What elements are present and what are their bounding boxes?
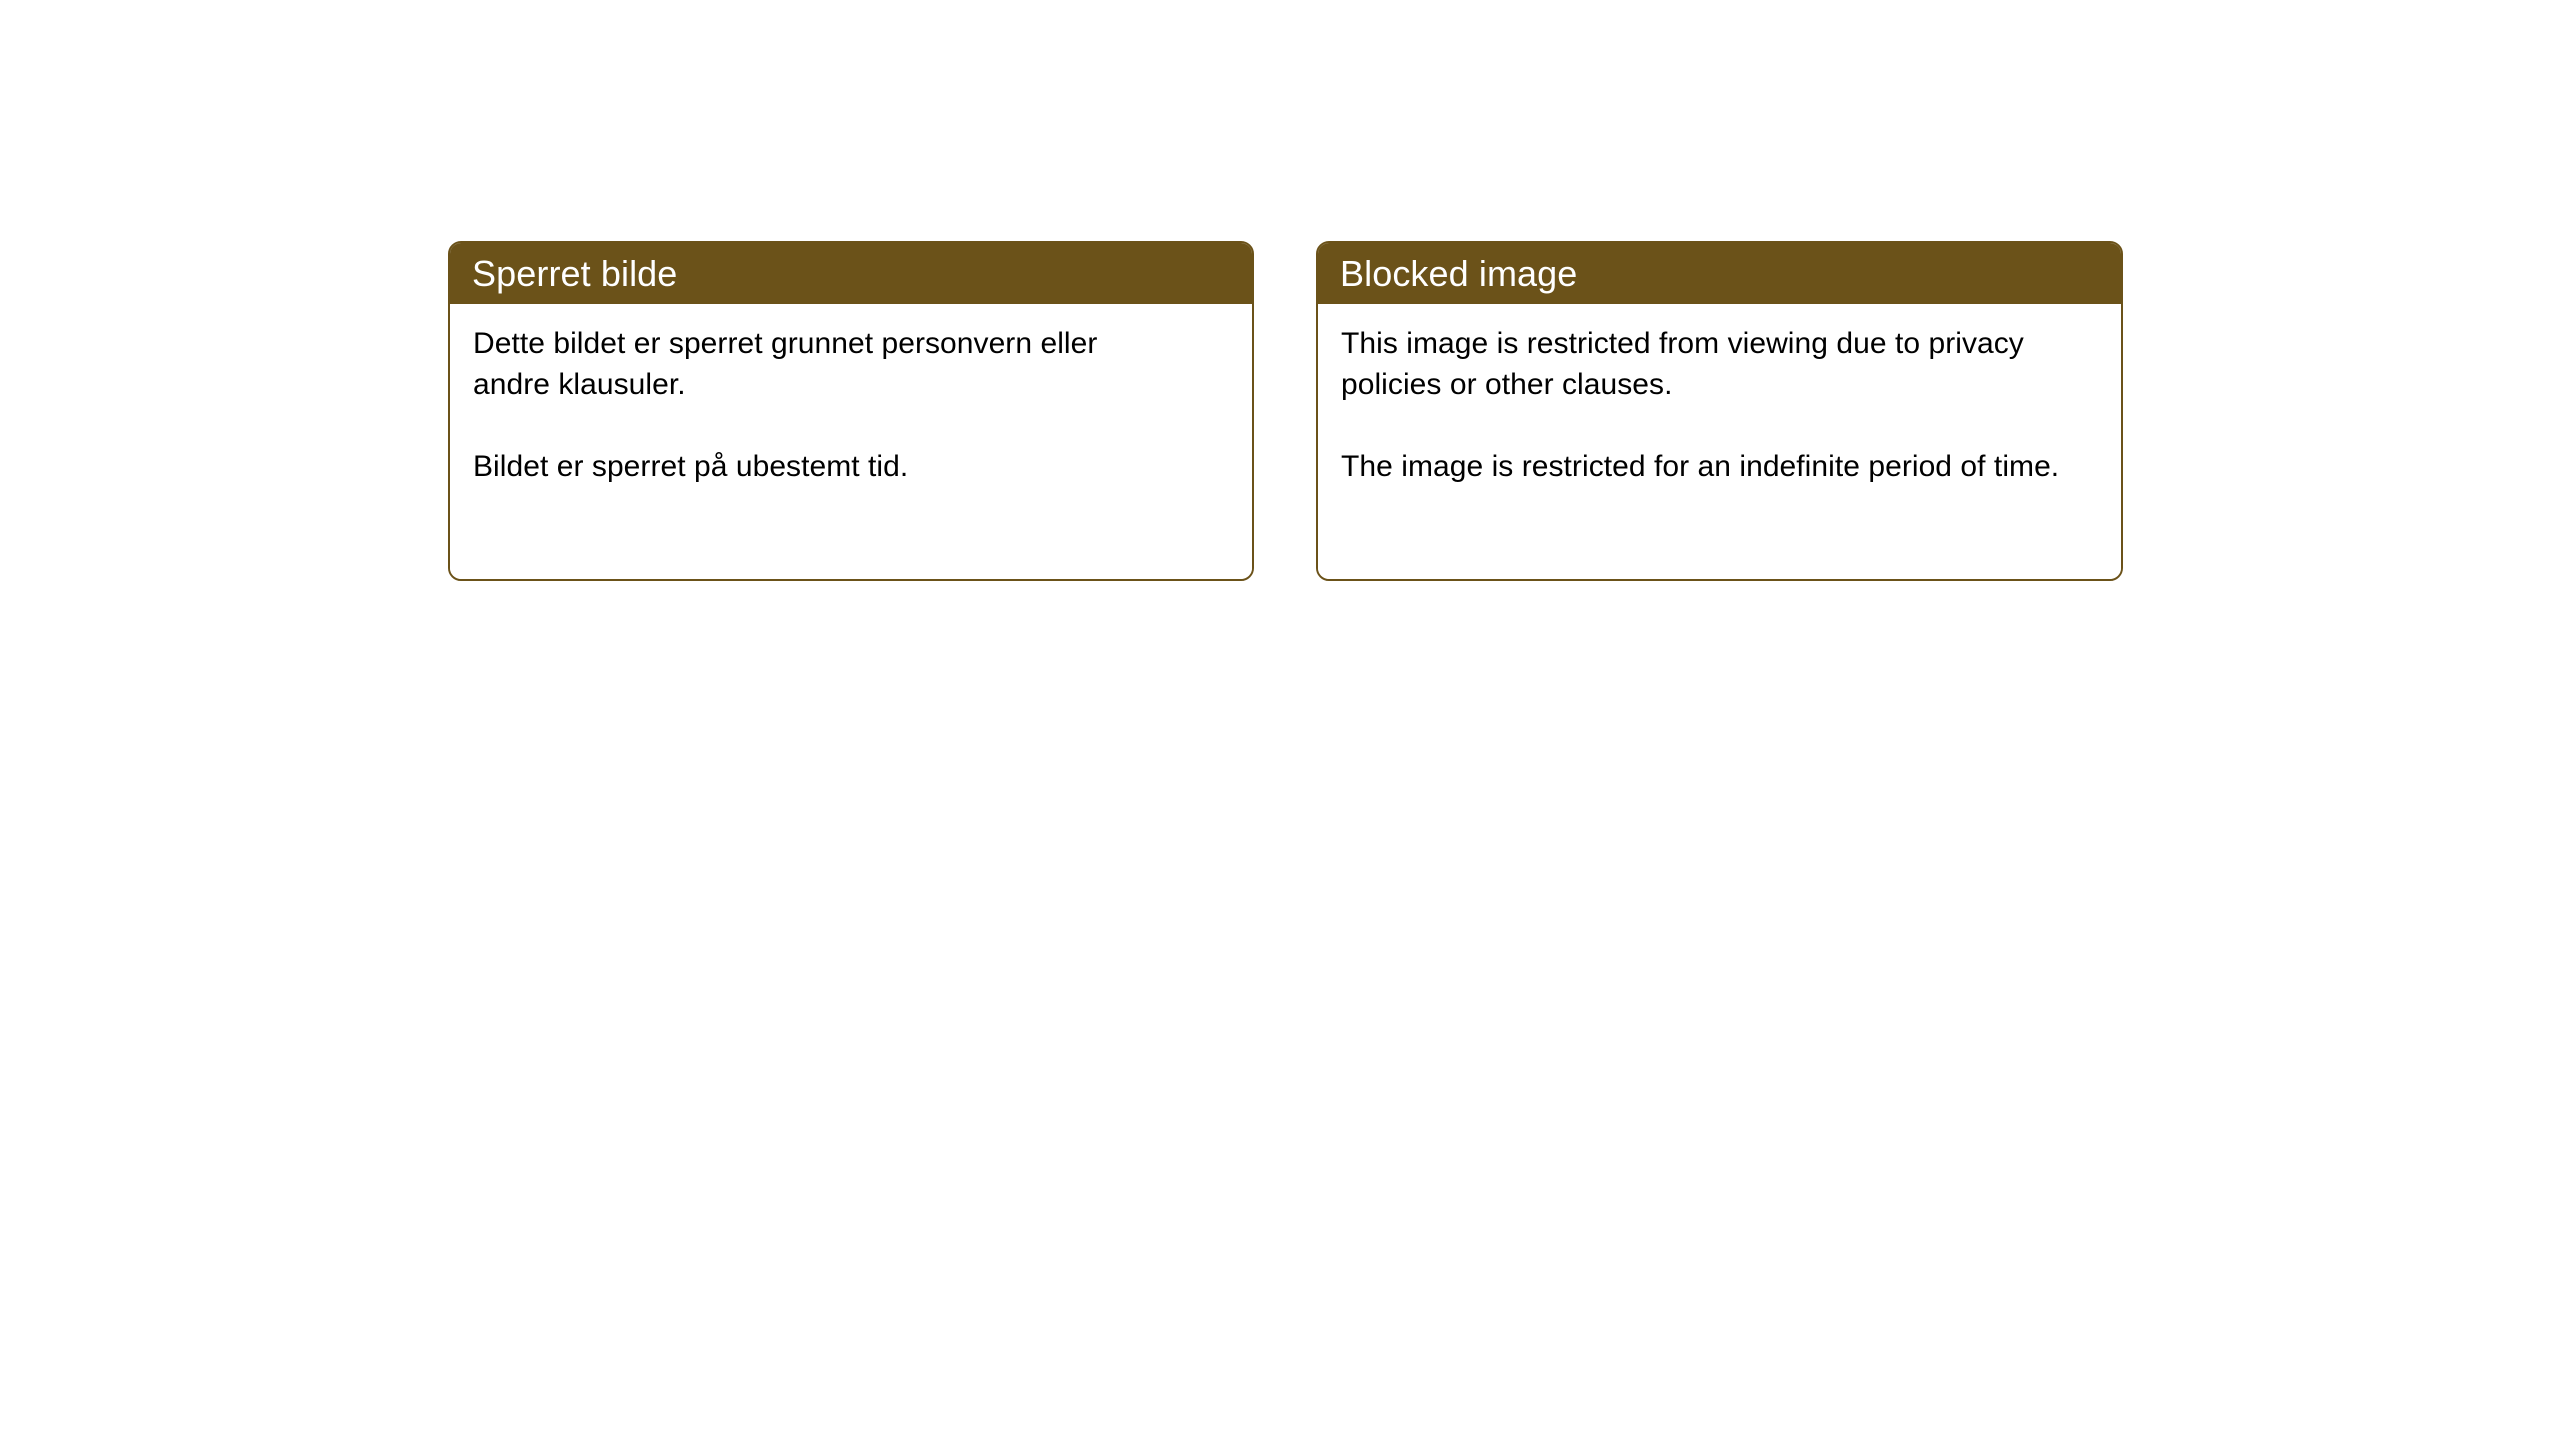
notice-paragraph-duration-english: The image is restricted for an indefinit…	[1341, 446, 2071, 487]
blocked-image-notice-group: Sperret bilde Dette bildet er sperret gr…	[448, 241, 2123, 581]
notice-header-english: Blocked image	[1318, 243, 2121, 304]
blocked-image-notice-norwegian: Sperret bilde Dette bildet er sperret gr…	[448, 241, 1254, 581]
notice-title-english: Blocked image	[1340, 254, 1577, 294]
notice-paragraph-reason-norwegian: Dette bildet er sperret grunnet personve…	[473, 323, 1173, 405]
page-canvas: Sperret bilde Dette bildet er sperret gr…	[0, 0, 2560, 1440]
notice-title-norwegian: Sperret bilde	[472, 254, 677, 294]
blocked-image-notice-english: Blocked image This image is restricted f…	[1316, 241, 2123, 581]
notice-paragraph-reason-english: This image is restricted from viewing du…	[1341, 323, 2071, 405]
notice-header-norwegian: Sperret bilde	[450, 243, 1252, 304]
notice-paragraph-duration-norwegian: Bildet er sperret på ubestemt tid.	[473, 446, 1173, 487]
notice-body-english: This image is restricted from viewing du…	[1318, 304, 2121, 579]
notice-body-norwegian: Dette bildet er sperret grunnet personve…	[450, 304, 1252, 579]
